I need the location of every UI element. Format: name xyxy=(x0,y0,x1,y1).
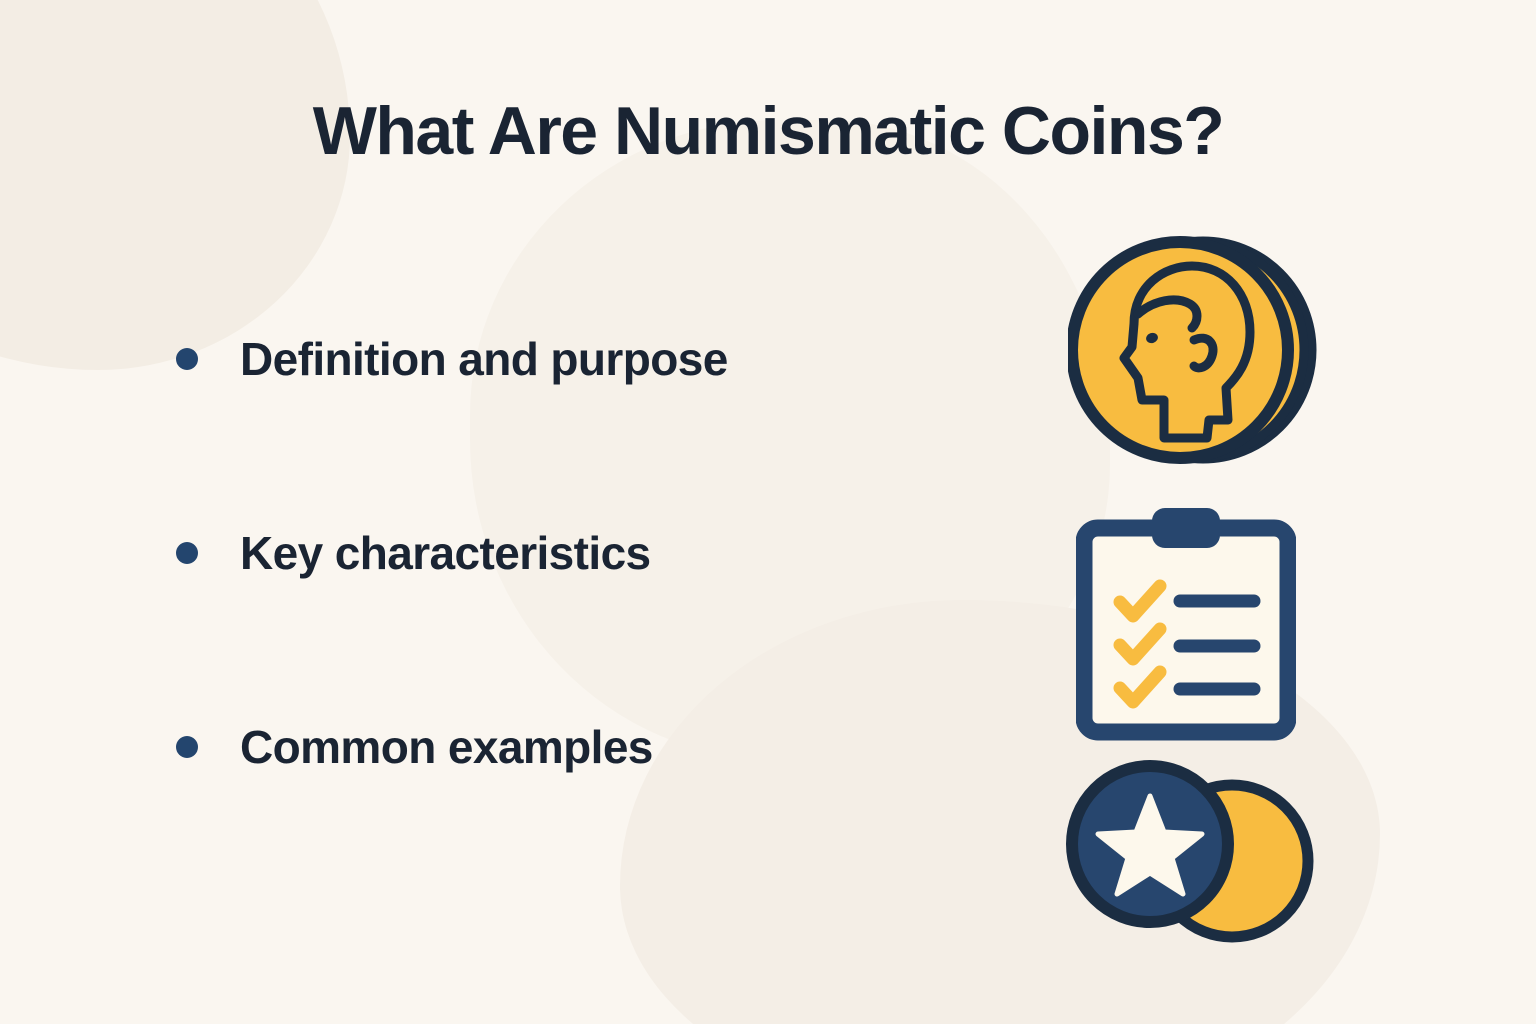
bullet-label: Key characteristics xyxy=(240,526,651,580)
coin-portrait-icon xyxy=(1068,228,1318,473)
bullet-dot-icon xyxy=(176,736,198,758)
list-item: Key characteristics xyxy=(176,506,996,600)
bullet-label: Definition and purpose xyxy=(240,332,728,386)
slide-canvas: What Are Numismatic Coins? Definition an… xyxy=(0,0,1536,1024)
list-item: Common examples xyxy=(176,700,996,794)
list-item: Definition and purpose xyxy=(176,312,996,406)
bullet-label: Common examples xyxy=(240,720,653,774)
coin-star-pair-icon xyxy=(1050,756,1330,946)
bullet-list: Definition and purpose Key characteristi… xyxy=(176,312,996,794)
clipboard-checklist-icon xyxy=(1076,506,1296,741)
page-title: What Are Numismatic Coins? xyxy=(0,96,1536,167)
icon-column xyxy=(1040,228,1340,948)
bullet-dot-icon xyxy=(176,348,198,370)
bullet-dot-icon xyxy=(176,542,198,564)
